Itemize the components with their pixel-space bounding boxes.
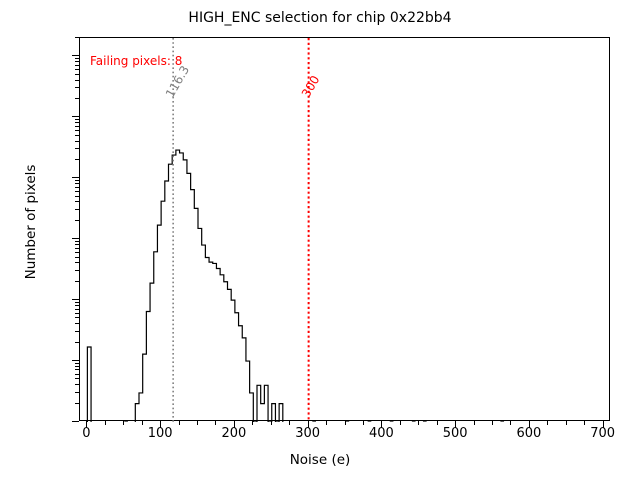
x-tick-label: 600: [499, 426, 559, 441]
histogram-outline: [87, 150, 504, 422]
y-tick-major: [72, 55, 79, 56]
x-axis-label: Noise (e): [0, 452, 640, 468]
y-tick-major: [72, 360, 79, 361]
histogram-series: [87, 150, 504, 422]
x-tick-label: 0: [56, 426, 116, 441]
y-tick-major: [72, 238, 79, 239]
x-tick-label: 100: [130, 426, 190, 441]
chart-title: HIGH_ENC selection for chip 0x22bb4: [0, 10, 640, 26]
x-tick-label: 200: [204, 426, 264, 441]
y-tick-major: [72, 299, 79, 300]
histogram-svg: [80, 38, 611, 422]
vertical-marker-lines: [173, 38, 308, 422]
y-tick-major: [72, 116, 79, 117]
y-axis-label: Number of pixels: [23, 122, 39, 322]
plot-area: Failing pixels: 8 116.3 300: [79, 37, 610, 421]
x-tick-label: 300: [278, 426, 338, 441]
chart-figure: HIGH_ENC selection for chip 0x22bb4 Numb…: [0, 0, 640, 480]
x-tick-label: 500: [425, 426, 485, 441]
x-tick-label: 400: [351, 426, 411, 441]
y-tick-major: [72, 177, 79, 178]
y-tick-major: [72, 421, 79, 422]
x-tick-label: 700: [573, 426, 633, 441]
failing-pixels-annotation: Failing pixels: 8: [90, 54, 182, 68]
